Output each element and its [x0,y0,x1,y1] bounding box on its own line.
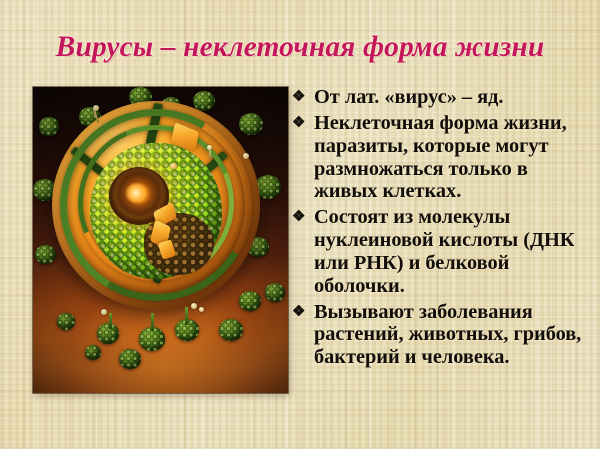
list-item-text: Вызывают заболевания растений, животных,… [314,301,594,370]
list-item: ❖ Состоят из молекулы нуклеиновой кислот… [292,206,594,297]
presentation-slide: Вирусы – неклеточная форма жизни [0,0,600,449]
peplomer-icon [191,303,197,309]
peplomer-stalk [151,313,154,331]
list-item-text: Состоят из молекулы нуклеиновой кислоты … [314,206,594,297]
list-item-text: Неклеточная форма жизни, паразиты, котор… [314,112,594,203]
core-glow [125,183,147,203]
list-item: ❖ От лат. «вирус» – яд. [292,86,594,109]
bullet-list: ❖ От лат. «вирус» – яд. ❖ Неклеточная фо… [292,86,594,372]
virus-illustration [33,87,288,393]
peplomer-icon [207,145,212,150]
diamond-cluster-icon: ❖ [292,87,305,108]
title-row: Вирусы – неклеточная форма жизни [0,32,600,63]
diamond-cluster-icon: ❖ [292,113,305,134]
list-item: ❖ Вызывают заболевания растений, животны… [292,301,594,370]
peplomer-icon [243,153,249,159]
peplomer-stalk [109,313,112,329]
list-item: ❖ Неклеточная форма жизни, паразиты, кот… [292,112,594,203]
diamond-cluster-icon: ❖ [292,207,305,228]
diamond-cluster-icon: ❖ [292,302,305,323]
peplomer-icon [199,307,204,312]
virus-envelope [52,101,260,309]
list-item-text: От лат. «вирус» – яд. [314,86,594,109]
peplomer-icon [101,309,107,315]
peplomer-icon [170,163,177,169]
page-title: Вирусы – неклеточная форма жизни [56,32,545,63]
peplomer-stalk [209,149,211,159]
virus-artwork-canvas [33,87,288,393]
peplomer-icon [93,105,99,111]
peplomer-stalk [185,307,188,325]
